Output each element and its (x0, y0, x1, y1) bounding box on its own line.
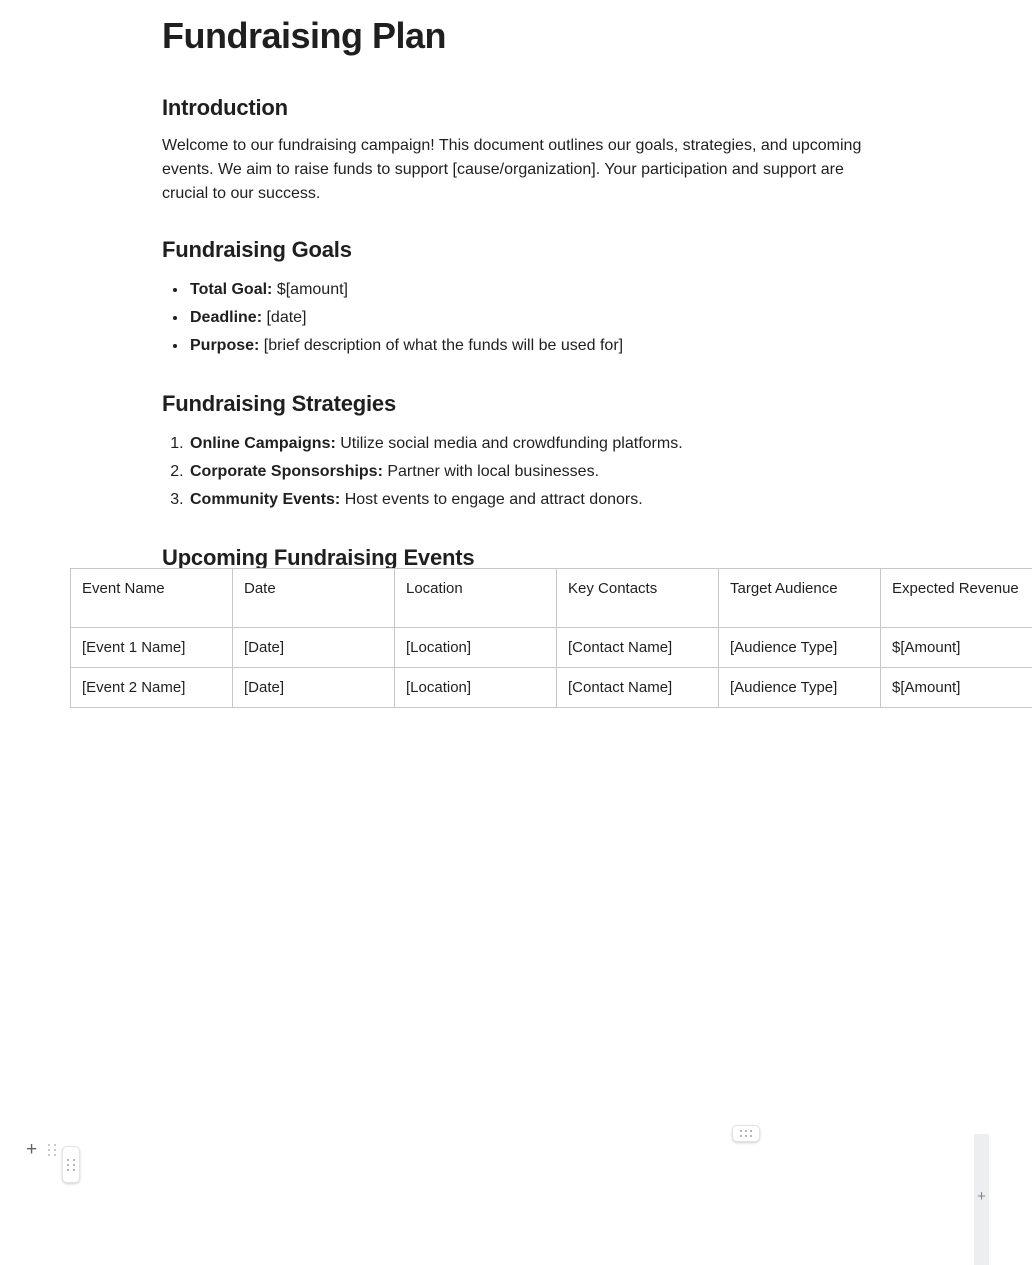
table-cell[interactable]: [Location] (395, 628, 557, 668)
list-item[interactable]: Online Campaigns: Utilize social media a… (188, 430, 862, 458)
column-header-expected-revenue[interactable]: Expected Revenue (881, 569, 1032, 628)
table-cell[interactable]: [Location] (395, 668, 557, 708)
spacer (162, 58, 862, 94)
events-table[interactable]: Event Name Date Location Key Contacts Ta… (70, 568, 1032, 708)
table-cell[interactable]: [Date] (233, 628, 395, 668)
heading-fundraising-strategies[interactable]: Fundraising Strategies (162, 390, 862, 418)
table-cell[interactable]: [Event 2 Name] (71, 668, 233, 708)
list-item[interactable]: Corporate Sponsorships: Partner with loc… (188, 458, 862, 486)
table-cell[interactable]: $[Amount] (881, 668, 1032, 708)
goal-label: Total Goal: (190, 281, 272, 298)
strategies-list: Online Campaigns: Utilize social media a… (162, 430, 862, 514)
strategy-value: Partner with local businesses. (387, 463, 599, 480)
document-body: Fundraising Plan Introduction Welcome to… (162, 0, 862, 572)
goal-value: [date] (266, 309, 306, 326)
table-header-row: Event Name Date Location Key Contacts Ta… (71, 569, 1032, 628)
list-item[interactable]: Total Goal: $[amount] (188, 276, 862, 304)
spacer (162, 514, 862, 544)
plus-icon: + (977, 1192, 986, 1202)
paragraph-introduction[interactable]: Welcome to our fundraising campaign! Thi… (162, 134, 862, 206)
table-grip-icon[interactable] (48, 1144, 56, 1156)
column-header-target-audience[interactable]: Target Audience (719, 569, 881, 628)
add-row-button[interactable]: + (24, 1142, 39, 1157)
six-dot-grip-icon (67, 1159, 75, 1171)
table-cell[interactable]: [Contact Name] (557, 628, 719, 668)
table-cell[interactable]: [Audience Type] (719, 628, 881, 668)
table-cell[interactable]: [Event 1 Name] (71, 628, 233, 668)
table-cell[interactable]: [Audience Type] (719, 668, 881, 708)
table-header: Event Name Date Location Key Contacts Ta… (71, 569, 1032, 628)
goal-label: Deadline: (190, 309, 262, 326)
goals-list: Total Goal: $[amount] Deadline: [date] P… (162, 276, 862, 360)
list-item[interactable]: Purpose: [brief description of what the … (188, 332, 862, 360)
goal-label: Purpose: (190, 337, 259, 354)
spacer (162, 206, 862, 236)
strategy-label: Corporate Sponsorships: (190, 463, 383, 480)
page-title[interactable]: Fundraising Plan (162, 0, 862, 58)
column-header-key-contacts[interactable]: Key Contacts (557, 569, 719, 628)
list-item[interactable]: Community Events: Host events to engage … (188, 486, 862, 514)
table-row: [Event 2 Name] [Date] [Location] [Contac… (71, 668, 1032, 708)
document-canvas: Fundraising Plan Introduction Welcome to… (0, 0, 1032, 699)
column-header-date[interactable]: Date (233, 569, 395, 628)
strategy-value: Utilize social media and crowdfunding pl… (340, 435, 682, 452)
strategy-label: Community Events: (190, 491, 340, 508)
table-cell[interactable]: $[Amount] (881, 628, 1032, 668)
table-body: [Event 1 Name] [Date] [Location] [Contac… (71, 628, 1032, 708)
column-header-location[interactable]: Location (395, 569, 557, 628)
goal-value: [brief description of what the funds wil… (264, 337, 623, 354)
heading-introduction[interactable]: Introduction (162, 94, 862, 122)
table-cell[interactable]: [Contact Name] (557, 668, 719, 708)
events-table-block: + Event Name Date Location Key Contacts … (0, 566, 1032, 699)
goal-value: $[amount] (277, 281, 348, 298)
list-item[interactable]: Deadline: [date] (188, 304, 862, 332)
heading-fundraising-goals[interactable]: Fundraising Goals (162, 236, 862, 264)
strategy-value: Host events to engage and attract donors… (345, 491, 643, 508)
row-drag-handle[interactable] (62, 1146, 80, 1183)
six-dot-grip-icon (740, 1130, 752, 1137)
column-header-event-name[interactable]: Event Name (71, 569, 233, 628)
spacer (162, 360, 862, 390)
table-cell[interactable]: [Date] (233, 668, 395, 708)
strategy-label: Online Campaigns: (190, 435, 336, 452)
add-column-button[interactable]: + (974, 1134, 989, 1265)
column-drag-handle[interactable] (732, 1125, 760, 1142)
table-row: [Event 1 Name] [Date] [Location] [Contac… (71, 628, 1032, 668)
